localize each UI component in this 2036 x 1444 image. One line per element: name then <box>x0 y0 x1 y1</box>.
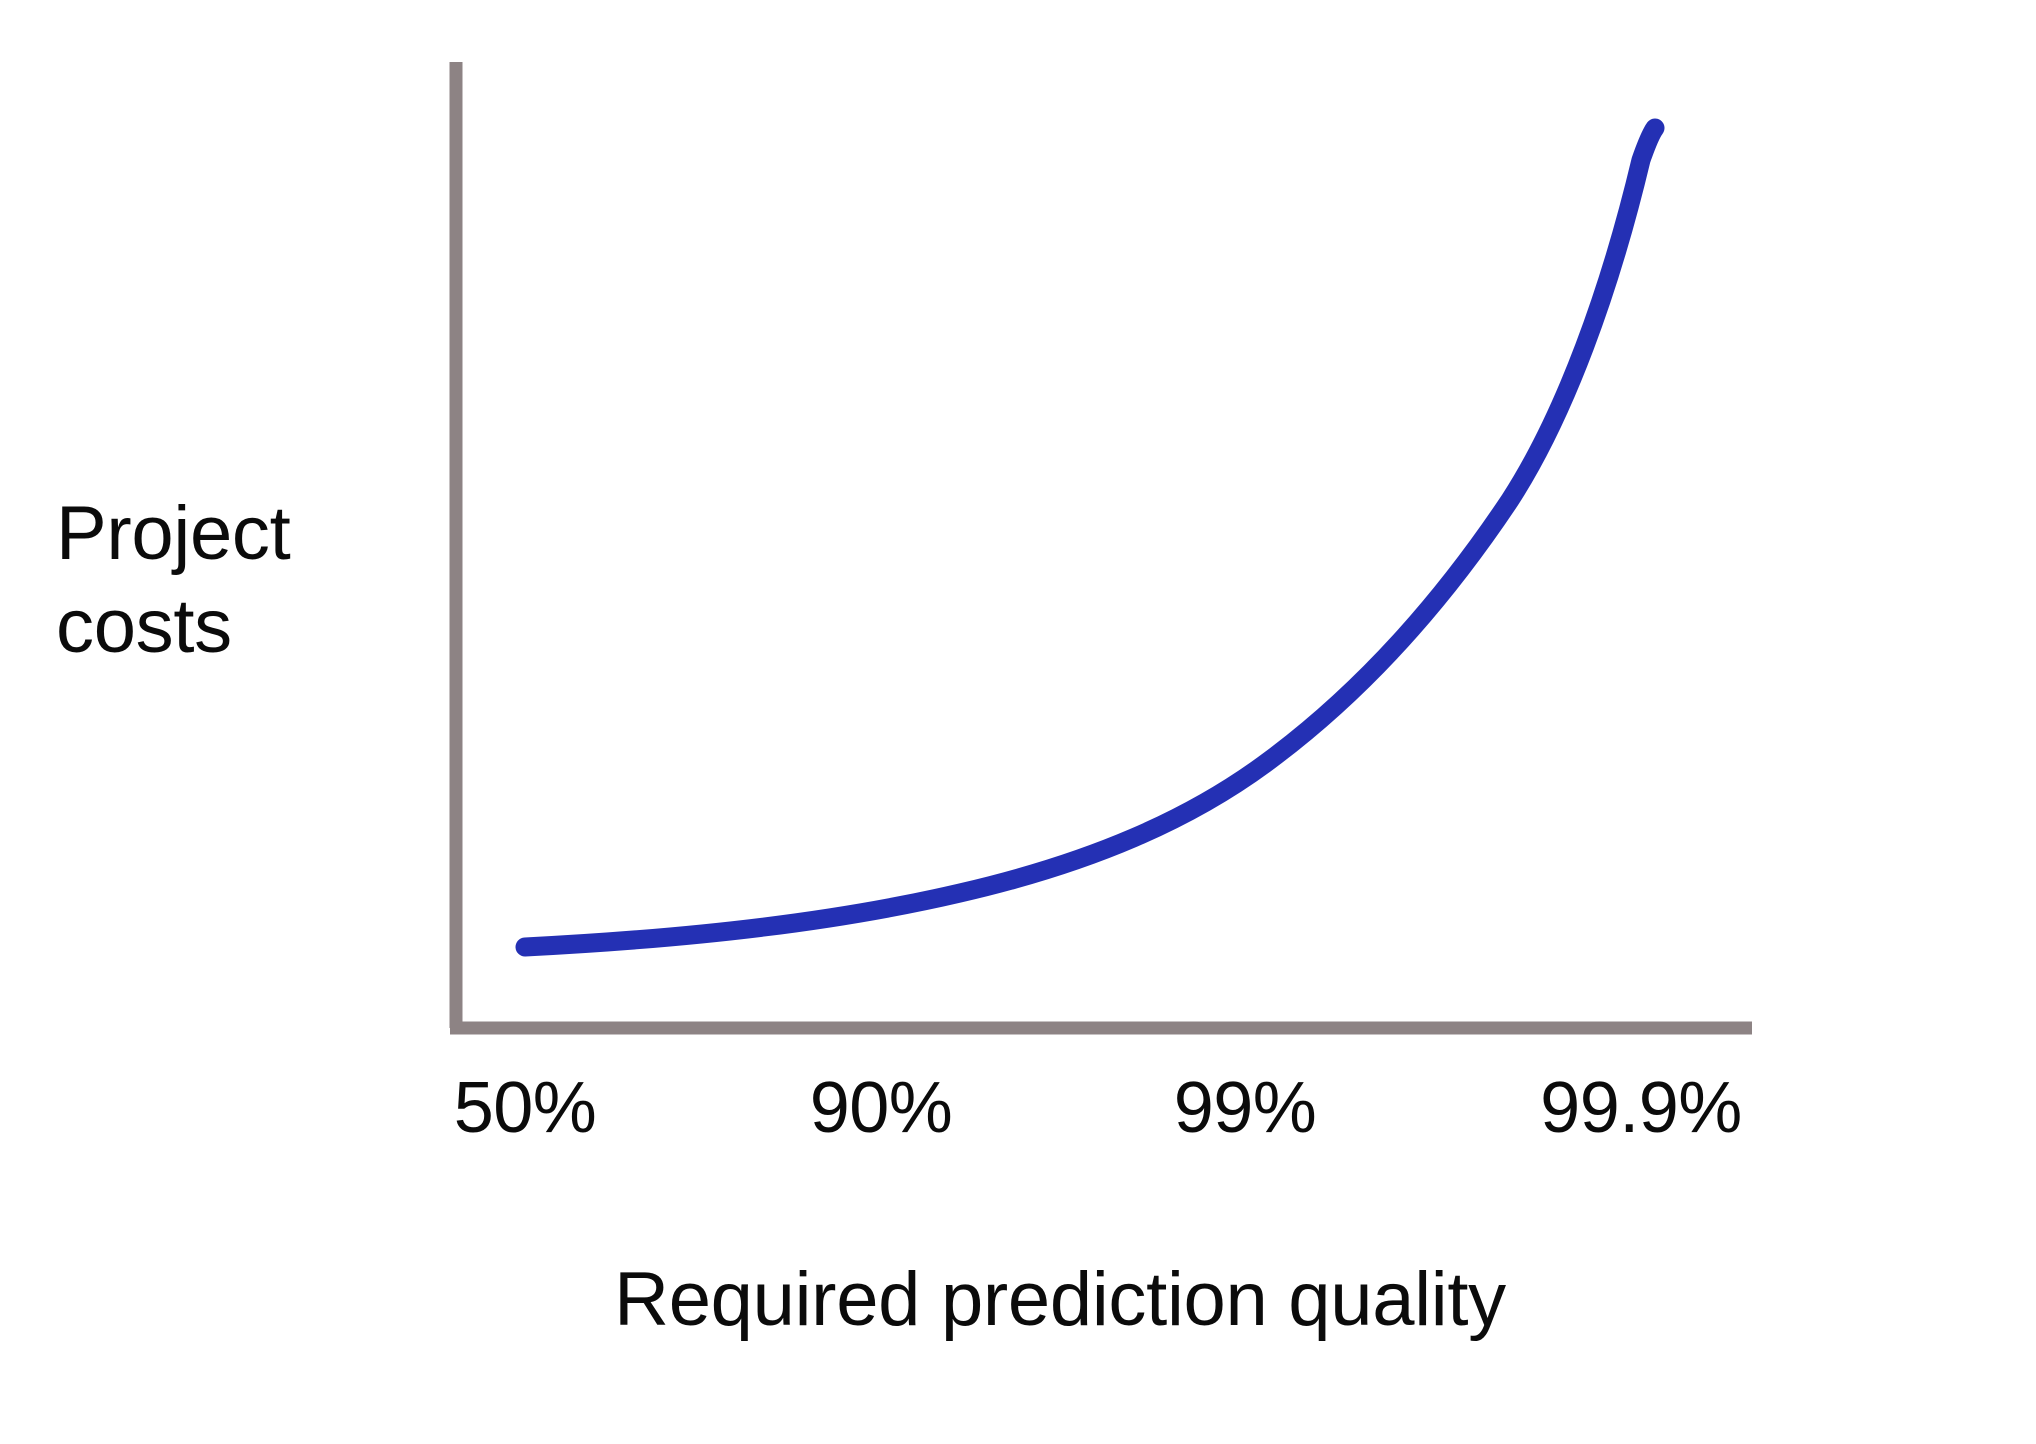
x-tick-label-50: 50% <box>454 1072 597 1144</box>
plot-svg <box>0 0 2036 1444</box>
x-axis-title: Required prediction quality <box>0 1262 2036 1338</box>
x-tick-label-99-9: 99.9% <box>1540 1072 1742 1144</box>
chart-figure: Project costs 50% 90% 99% 99.9% Required… <box>0 0 2036 1444</box>
x-tick-label-90: 90% <box>810 1072 953 1144</box>
cost-curve-line <box>525 128 1655 947</box>
x-tick-label-99: 99% <box>1174 1072 1317 1144</box>
